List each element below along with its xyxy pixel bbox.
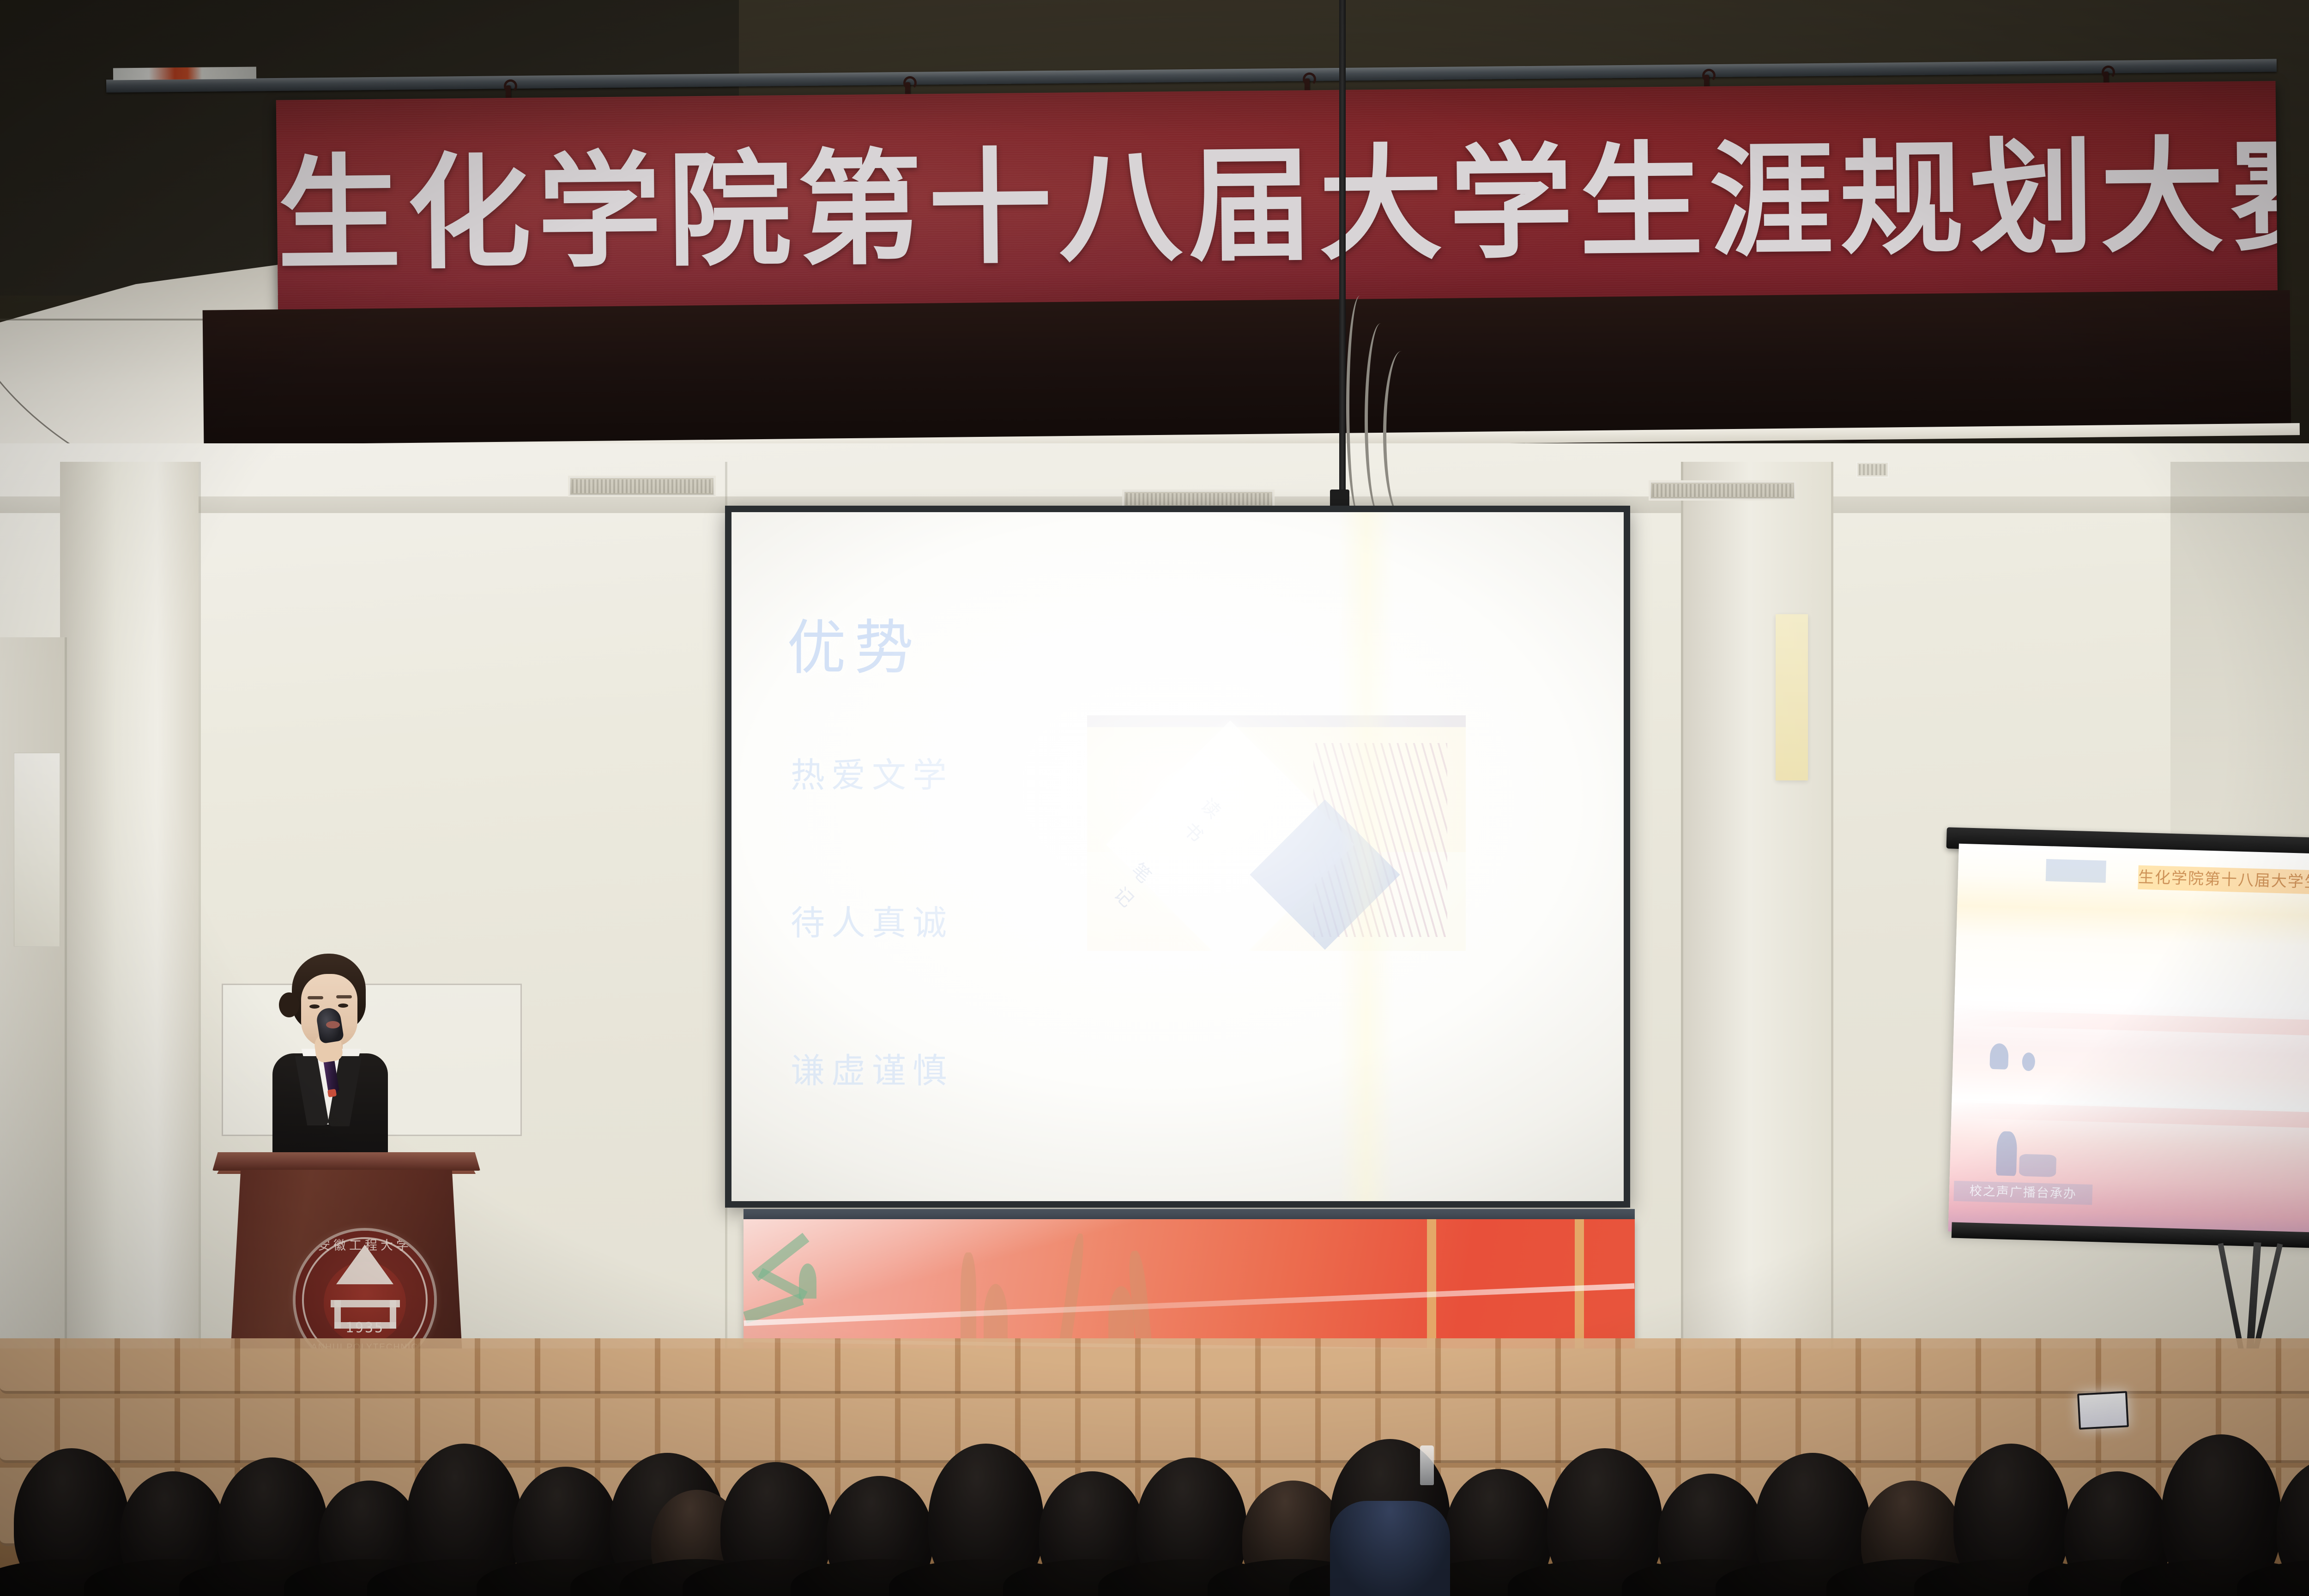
- microphone-tip: [327, 1089, 337, 1098]
- water-bottle: [1420, 1445, 1434, 1485]
- audience-area: [0, 1321, 2309, 1596]
- secondary-slide-figure: [2019, 1154, 2056, 1177]
- wall-seam: [1831, 462, 1833, 1358]
- secondary-projection-screen: 生化学院第十八届大学生涯规划大赛决赛 校之声广播台承办: [1948, 844, 2309, 1244]
- presenter-hair-bun: [279, 992, 299, 1017]
- screen-light-flare: [1338, 512, 1394, 1201]
- audience-member-jacket: [1330, 1501, 1450, 1596]
- wall-seam: [199, 462, 201, 1367]
- projector-pipe: [1339, 0, 1346, 517]
- ceiling-vent: [568, 476, 716, 497]
- secondary-slide-logo: [2046, 859, 2106, 883]
- wall-seam: [1681, 462, 1683, 1358]
- screen-side-tab: [1776, 614, 1808, 780]
- skirt-crease: [744, 1283, 1635, 1326]
- slide-bullet-2: 待人真诚: [791, 895, 953, 945]
- secondary-slide-figure: [2022, 1052, 2035, 1071]
- secondary-slide-title: 生化学院第十八届大学生涯规划大赛决赛: [2138, 865, 2309, 897]
- secondary-slide-band: [1951, 1102, 2309, 1130]
- slide-bullet-3: 谦虚谨慎: [791, 1043, 953, 1093]
- projector-cable: [1383, 351, 1420, 517]
- auditorium-scene: 生化学院第十八届大学生涯规划大赛决赛 读: [0, 0, 2309, 1596]
- presenter-eye: [309, 1004, 320, 1009]
- podium-top: [212, 1152, 480, 1171]
- projected-slide: 读 书 笔 记 优势 热爱文学 待人真诚 谦虚谨慎: [731, 512, 1624, 1201]
- presenter-brow: [336, 995, 352, 998]
- presenter-eye: [338, 1004, 348, 1008]
- ceiling-light-strip: [1856, 462, 1889, 478]
- wall-pillar-right: [1681, 462, 1833, 1358]
- wall-small-panel: [14, 753, 60, 947]
- slide-bullet-1: 热爱文学: [791, 748, 953, 797]
- secondary-slide-footer: 校之声广播台承办: [1953, 1181, 2092, 1205]
- wall-seam: [65, 637, 67, 1358]
- seat-row: [0, 1398, 2309, 1463]
- banner-title-text: 生化学院第十八届大学生涯规划大赛决赛: [277, 134, 2277, 278]
- main-projection-screen: 读 书 笔 记 优势 热爱文学 待人真诚 谦虚谨慎: [725, 506, 1630, 1208]
- secondary-slide-figure: [1989, 1043, 2009, 1070]
- secondary-slide-figure: [1996, 1131, 2018, 1176]
- wall-block-left: [0, 637, 65, 1358]
- presenter: [259, 954, 397, 1166]
- emblem-triangle: [336, 1245, 393, 1284]
- banner-rail-marker: [113, 67, 256, 80]
- secondary-slide-band: [1954, 1010, 2309, 1038]
- presenter-mouth: [326, 1021, 340, 1028]
- ceiling-vent: [1649, 480, 1796, 501]
- slide-photo-image: 读 书 笔 记: [1087, 715, 1466, 951]
- wall-pillar-left: [60, 462, 199, 1381]
- skirt-leaf: [799, 1263, 816, 1299]
- seat-row: [0, 1338, 2309, 1394]
- audience-tablet-screen: [2077, 1391, 2129, 1430]
- slide-title: 优势: [787, 600, 922, 685]
- presenter-brow: [308, 996, 323, 999]
